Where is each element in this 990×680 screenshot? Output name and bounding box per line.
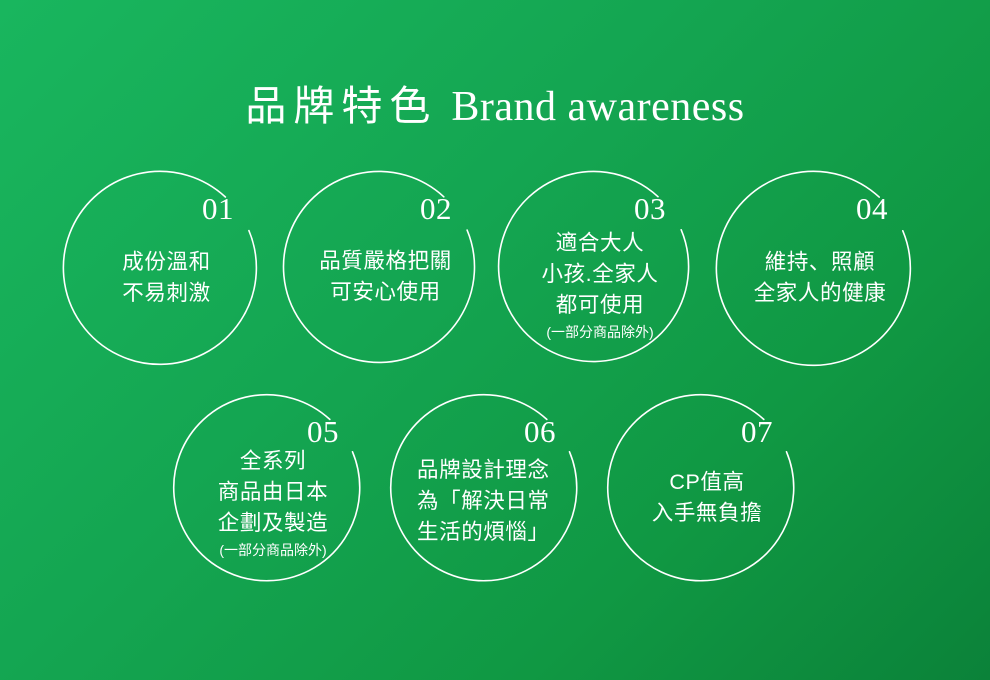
feature-item-05: 05 全系列 商品由日本 企劃及製造 (一部分商品除外)	[180, 405, 366, 591]
feature-number-03: 03	[634, 193, 666, 224]
feature-number-07: 07	[741, 416, 773, 447]
feature-item-01: 01 成份溫和 不易刺激	[70, 182, 263, 375]
feature-line: CP值高	[608, 467, 806, 498]
feature-line: 不易刺激	[70, 278, 263, 309]
feature-text-03: 適合大人 小孩.全家人 都可使用 (一部分商品除外)	[498, 228, 702, 343]
feature-note: (一部分商品除外)	[172, 540, 374, 561]
feature-line: 全系列	[172, 446, 374, 477]
feature-line: 小孩.全家人	[498, 259, 702, 290]
page-title: 品牌特色Brand awareness	[0, 72, 990, 132]
page-title-chinese: 品牌特色	[245, 83, 437, 129]
feature-line: 成份溫和	[70, 247, 263, 278]
slide-canvas: 品牌特色Brand awareness 01 成份溫和 不易刺激 02 品質嚴格…	[0, 0, 990, 680]
feature-line: 全家人的健康	[717, 278, 923, 309]
feature-text-05: 全系列 商品由日本 企劃及製造 (一部分商品除外)	[172, 446, 374, 561]
feature-line: 企劃及製造	[172, 508, 374, 539]
feature-number-06: 06	[524, 416, 556, 447]
feature-number-02: 02	[420, 193, 452, 224]
feature-text-07: CP值高 入手無負擔	[608, 467, 806, 529]
feature-number-04: 04	[856, 193, 888, 224]
feature-note: (一部分商品除外)	[498, 322, 702, 343]
feature-line: 維持、照顧	[717, 247, 923, 278]
feature-line: 為「解決日常	[417, 486, 603, 517]
feature-text-06: 品牌設計理念 為「解決日常 生活的煩惱」	[417, 455, 603, 548]
feature-item-03: 03 適合大人 小孩.全家人 都可使用 (一部分商品除外)	[505, 182, 695, 372]
feature-number-05: 05	[307, 416, 339, 447]
feature-line: 入手無負擔	[608, 498, 806, 529]
feature-line: 適合大人	[498, 228, 702, 259]
feature-line: 品質嚴格把關	[284, 246, 487, 277]
feature-item-07: 07 CP值高 入手無負擔	[614, 405, 800, 591]
feature-item-06: 06 品牌設計理念 為「解決日常 生活的煩惱」	[397, 405, 583, 591]
feature-number-01: 01	[202, 193, 234, 224]
feature-line: 商品由日本	[172, 477, 374, 508]
feature-text-04: 維持、照顧 全家人的健康	[717, 247, 923, 309]
feature-item-02: 02 品質嚴格把關 可安心使用	[290, 182, 481, 373]
page-title-english: Brand awareness	[451, 84, 744, 130]
feature-line: 品牌設計理念	[417, 455, 603, 486]
feature-text-02: 品質嚴格把關 可安心使用	[284, 246, 487, 308]
feature-line: 都可使用	[498, 290, 702, 321]
feature-text-01: 成份溫和 不易刺激	[70, 247, 263, 309]
feature-item-04: 04 維持、照顧 全家人的健康	[723, 182, 917, 376]
feature-line: 生活的煩惱」	[417, 517, 603, 548]
feature-line: 可安心使用	[284, 277, 487, 308]
